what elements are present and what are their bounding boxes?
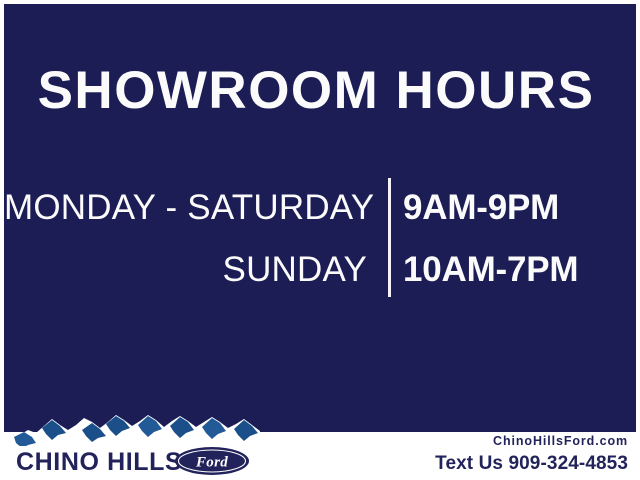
hours-days-label: MONDAY - SATURDAY <box>4 190 385 225</box>
text-us-phone[interactable]: Text Us 909-324-4853 <box>328 452 628 476</box>
dealer-name-wordmark: CHINO HILLS <box>16 450 182 475</box>
svg-text:Ford: Ford <box>195 455 228 471</box>
showroom-hours-sign: SHOWROOM HOURS MONDAY - SATURDAY 9AM-9PM… <box>0 0 640 480</box>
hours-row: SUNDAY 10AM-7PM <box>4 240 636 298</box>
hours-table: MONDAY - SATURDAY 9AM-9PM SUNDAY 10AM-7P… <box>4 176 636 300</box>
ford-logo-icon: Ford <box>174 446 250 476</box>
page-title: SHOWROOM HOURS <box>0 64 632 117</box>
hours-days-label: SUNDAY <box>4 252 385 287</box>
hours-time-value: 9AM-9PM <box>385 190 636 225</box>
mountains-icon <box>8 406 260 450</box>
footer-contact: ChinoHillsFord.com Text Us 909-324-4853 <box>328 434 628 475</box>
hours-vertical-divider <box>388 178 391 297</box>
hours-time-value: 10AM-7PM <box>385 252 636 287</box>
hours-row: MONDAY - SATURDAY 9AM-9PM <box>4 178 636 236</box>
website-link[interactable]: ChinoHillsFord.com <box>328 434 628 450</box>
